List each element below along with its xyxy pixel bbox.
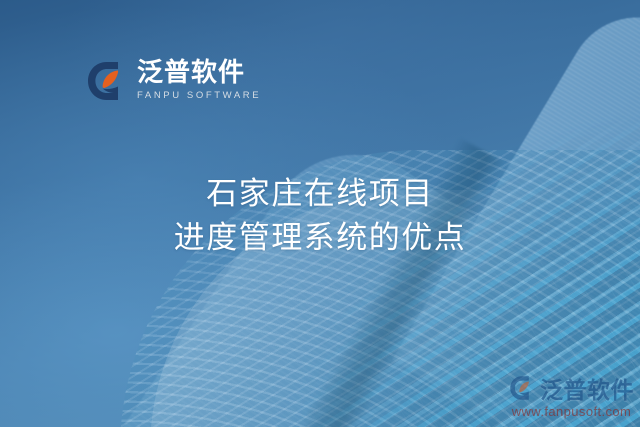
brand-name-cn: 泛普软件 bbox=[137, 58, 261, 87]
page-title: 石家庄在线项目 进度管理系统的优点 bbox=[0, 172, 640, 260]
brand-logo-text: 泛普软件 FANPU SOFTWARE bbox=[137, 58, 261, 101]
page-title-line-2: 进度管理系统的优点 bbox=[0, 216, 640, 260]
fanpu-logo-icon bbox=[86, 60, 128, 102]
watermark: 泛普软件 www.fanpusoft.com bbox=[509, 371, 634, 419]
watermark-brand-name: 泛普软件 bbox=[540, 371, 634, 405]
watermark-brand-row: 泛普软件 bbox=[509, 371, 634, 405]
fanpu-watermark-icon bbox=[509, 375, 535, 401]
promo-banner: 泛普软件 FANPU SOFTWARE 石家庄在线项目 进度管理系统的优点 泛普… bbox=[0, 0, 640, 427]
brand-name-en: FANPU SOFTWARE bbox=[137, 90, 261, 101]
watermark-url: www.fanpusoft.com bbox=[509, 404, 634, 419]
brand-logo: 泛普软件 FANPU SOFTWARE bbox=[86, 58, 261, 102]
page-title-line-1: 石家庄在线项目 bbox=[0, 172, 640, 216]
